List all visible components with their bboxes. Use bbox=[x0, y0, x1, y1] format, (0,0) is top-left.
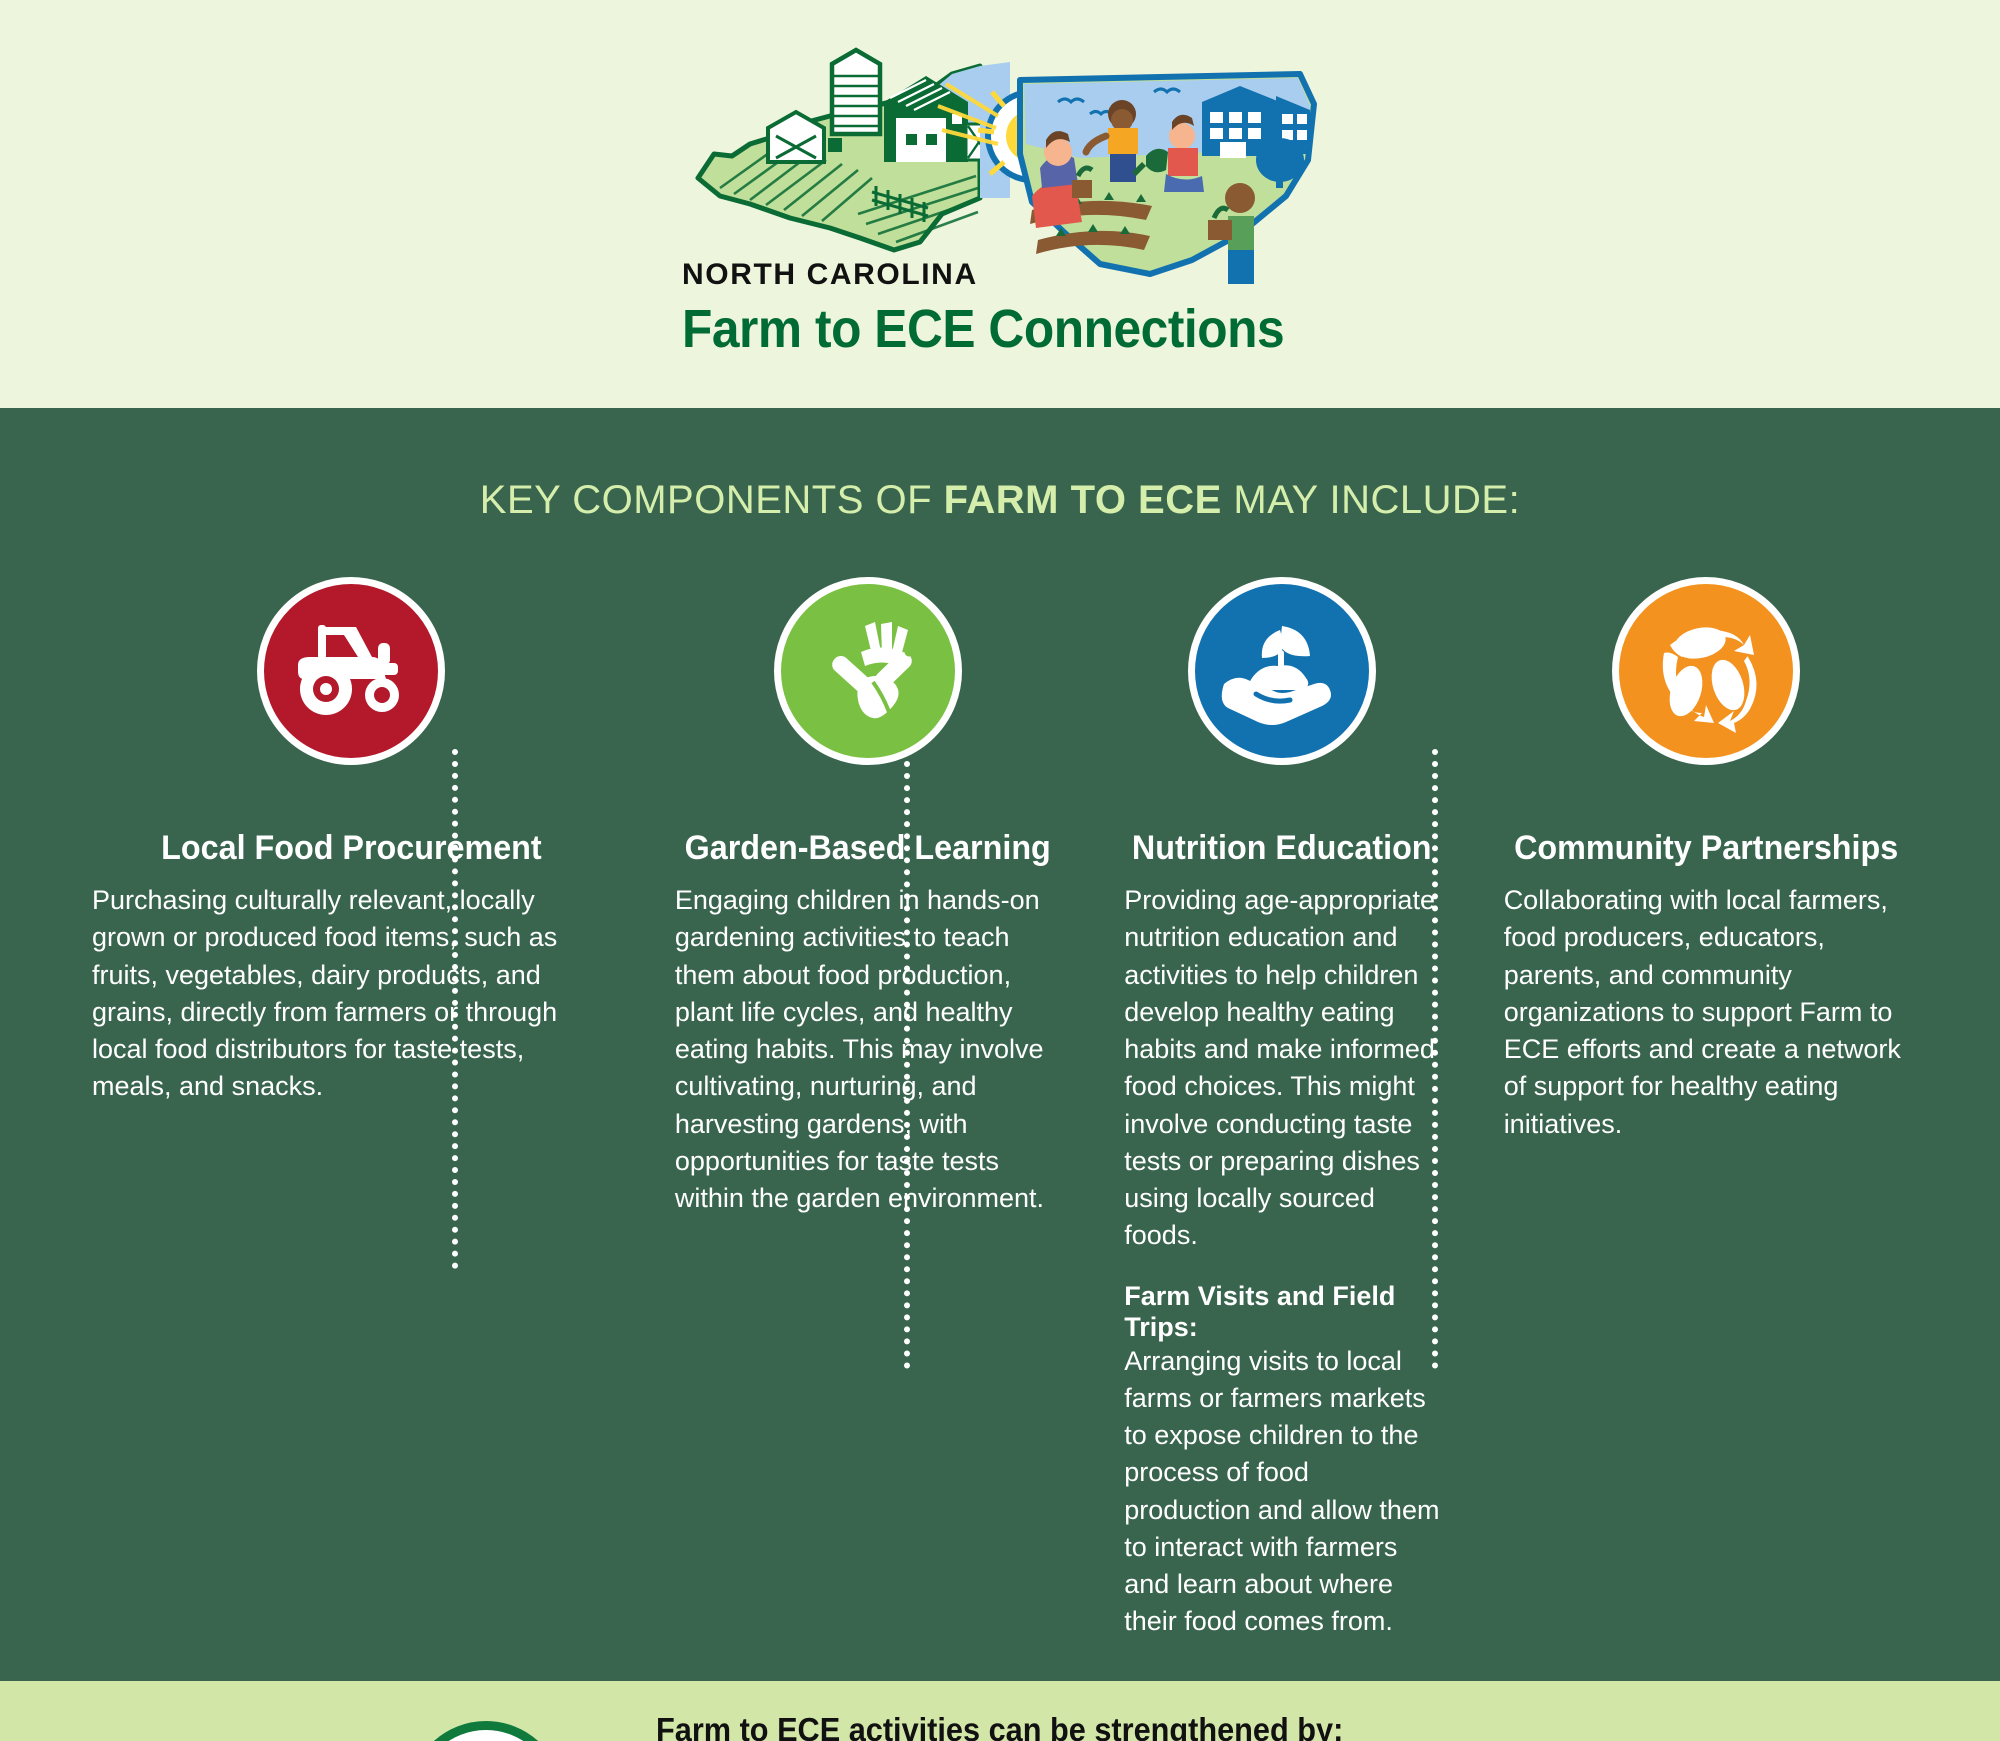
three-leaves-cycle-icon bbox=[1612, 577, 1800, 765]
brand-block: NORTH CAROLINA Farm to ECE Connections bbox=[682, 258, 1102, 360]
column-subheading: Farm Visits and Field Trips: bbox=[1124, 1281, 1439, 1343]
watering-can-icon bbox=[408, 1721, 564, 1741]
column-title: Nutrition Education bbox=[1132, 829, 1432, 868]
component-column-garden-learning: Garden-Based Learning Engaging children … bbox=[643, 577, 1092, 1641]
panel-heading-pre: KEY COMPONENTS OF bbox=[480, 478, 944, 522]
header: NORTH CAROLINA Farm to ECE Connections bbox=[0, 0, 2000, 408]
column-title: Community Partnerships bbox=[1514, 829, 1898, 868]
footer-text-block: Farm to ECE activities can be strengthen… bbox=[656, 1711, 1560, 1741]
footer-strengthened-by: Farm to ECE activities can be strengthen… bbox=[0, 1681, 2000, 1741]
key-components-panel: KEY COMPONENTS OF FARM TO ECE MAY INCLUD… bbox=[0, 408, 2000, 1681]
column-body: Collaborating with local farmers, food p… bbox=[1504, 882, 1908, 1143]
component-column-community-partnerships: Community Partnerships Collaborating wit… bbox=[1472, 577, 1940, 1641]
component-columns: Local Food Procurement Purchasing cultur… bbox=[0, 577, 2000, 1641]
column-body: Purchasing culturally relevant, locally … bbox=[92, 882, 611, 1106]
hand-with-sprout-icon bbox=[1188, 577, 1376, 765]
brand-state: NORTH CAROLINA bbox=[682, 258, 1102, 292]
column-title: Garden-Based Learning bbox=[684, 829, 1050, 868]
component-column-local-food: Local Food Procurement Purchasing cultur… bbox=[60, 577, 643, 1641]
infographic-page: NORTH CAROLINA Farm to ECE Connections K… bbox=[0, 0, 2000, 1741]
component-column-nutrition-education: Nutrition Education Providing age-approp… bbox=[1092, 577, 1471, 1641]
panel-heading: KEY COMPONENTS OF FARM TO ECE MAY INCLUD… bbox=[0, 408, 2000, 577]
footer-title: Farm to ECE activities can be strengthen… bbox=[656, 1711, 1497, 1741]
column-sub-body: Arranging visits to local farms or farme… bbox=[1124, 1343, 1439, 1641]
page-title: Farm to ECE Connections bbox=[682, 298, 1068, 360]
garden-tools-icon bbox=[774, 577, 962, 765]
column-title: Local Food Procurement bbox=[105, 829, 598, 868]
panel-heading-post: MAY INCLUDE: bbox=[1222, 478, 1520, 522]
panel-heading-bold: FARM TO ECE bbox=[944, 478, 1222, 522]
column-body: Engaging children in hands-on gardening … bbox=[675, 882, 1060, 1217]
tractor-icon bbox=[257, 577, 445, 765]
column-body: Providing age-appropriate nutrition educ… bbox=[1124, 882, 1439, 1255]
